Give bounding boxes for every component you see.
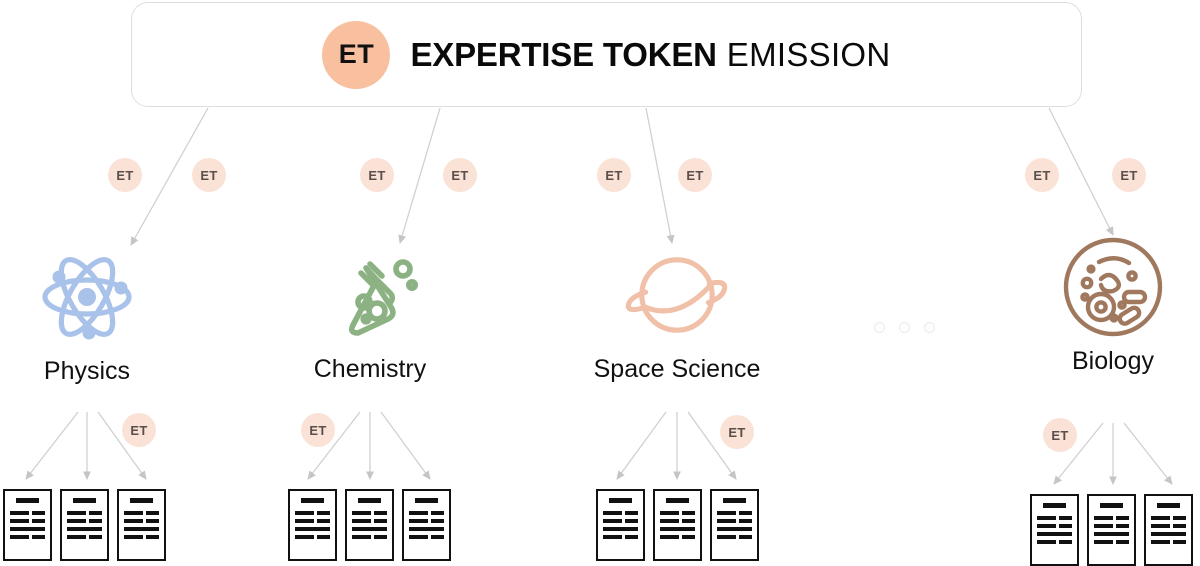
et-badge-chemistry-bottom[interactable]: ET (301, 413, 335, 447)
et-badge-chemistry-top-2[interactable]: ET (443, 158, 477, 192)
document-text-line (67, 535, 86, 539)
document-text-row (1151, 532, 1186, 536)
discipline-biology[interactable]: Biology (1055, 235, 1171, 376)
document-text-line (1151, 540, 1170, 544)
et-badge-physics-top-1[interactable]: ET (108, 158, 142, 192)
document-text-line (352, 527, 387, 531)
document-text-line (89, 535, 102, 539)
document-text-line (317, 519, 330, 523)
et-badge-physics-bottom[interactable]: ET (122, 413, 156, 447)
document-text-row (10, 527, 45, 531)
document-text-line (146, 511, 159, 515)
document-text-line (10, 535, 29, 539)
document-text-row (717, 535, 752, 539)
document-text-line (146, 535, 159, 539)
discipline-label-space-science: Space Science (594, 355, 761, 384)
document-text-row (717, 527, 752, 531)
flask-icon (312, 243, 428, 347)
document-text-row (1037, 524, 1072, 528)
document-text-line (32, 535, 45, 539)
document-text-line (374, 535, 387, 539)
document-text-row (660, 519, 695, 523)
document-text-row (1151, 516, 1186, 520)
paper-document-icon[interactable] (1087, 494, 1136, 566)
et-badge-space-science-top-2[interactable]: ET (678, 158, 712, 192)
document-group-chemistry (288, 489, 451, 561)
document-text-line (1094, 540, 1113, 544)
document-text-row (660, 511, 695, 515)
document-title-bar (73, 498, 96, 503)
document-text-line (1173, 516, 1186, 520)
paper-document-icon[interactable] (596, 489, 645, 561)
paper-document-icon[interactable] (402, 489, 451, 561)
document-text-line (352, 519, 371, 523)
document-text-line (1116, 524, 1129, 528)
document-text-row (409, 519, 444, 523)
arrow-space-science-to-doc-1 (617, 412, 666, 479)
document-text-row (717, 511, 752, 515)
document-text-line (1094, 532, 1129, 536)
document-text-line (317, 535, 330, 539)
document-text-line (1037, 540, 1056, 544)
document-text-line (431, 535, 444, 539)
et-badge-biology-top-1[interactable]: ET (1025, 158, 1059, 192)
document-text-row (660, 527, 695, 531)
document-text-row (352, 535, 387, 539)
paper-document-icon[interactable] (117, 489, 166, 561)
document-text-row (1094, 516, 1129, 520)
document-text-line (409, 535, 428, 539)
document-text-row (1037, 532, 1072, 536)
document-text-line (717, 511, 736, 515)
et-badge-space-science-top-1[interactable]: ET (597, 158, 631, 192)
document-text-row (67, 519, 102, 523)
document-text-row (10, 511, 45, 515)
et-badge-physics-top-2[interactable]: ET (192, 158, 226, 192)
document-text-line (1173, 524, 1186, 528)
document-text-line (603, 519, 622, 523)
arrow-physics-to-doc-1 (26, 412, 78, 479)
document-text-line (409, 511, 428, 515)
document-text-line (1116, 540, 1129, 544)
document-text-line (1059, 516, 1072, 520)
planet-icon (619, 243, 735, 347)
document-text-line (374, 511, 387, 515)
document-text-line (295, 527, 330, 531)
et-badge-chemistry-top-1[interactable]: ET (360, 158, 394, 192)
document-text-line (739, 511, 752, 515)
document-text-line (739, 519, 752, 523)
paper-document-icon[interactable] (710, 489, 759, 561)
document-text-row (124, 527, 159, 531)
paper-document-icon[interactable] (60, 489, 109, 561)
document-text-line (295, 511, 314, 515)
document-group-space-science (596, 489, 759, 561)
arrow-emission-to-chemistry (400, 108, 440, 243)
arrow-biology-to-doc-3 (1124, 423, 1172, 484)
document-text-line (352, 535, 371, 539)
document-text-line (317, 511, 330, 515)
document-text-row (1094, 540, 1129, 544)
document-text-line (739, 535, 752, 539)
document-title-bar (609, 498, 632, 503)
document-text-line (32, 511, 45, 515)
document-text-line (1037, 516, 1056, 520)
document-text-line (660, 527, 695, 531)
discipline-chemistry[interactable]: Chemistry (312, 243, 428, 384)
document-text-line (682, 519, 695, 523)
document-text-row (1151, 540, 1186, 544)
document-text-line (89, 519, 102, 523)
discipline-label-biology: Biology (1072, 347, 1154, 376)
document-text-row (409, 527, 444, 531)
document-text-row (295, 519, 330, 523)
document-text-row (1037, 540, 1072, 544)
document-text-line (146, 519, 159, 523)
ellipsis-dot-2 (899, 322, 910, 333)
discipline-physics[interactable]: Physics (29, 245, 145, 386)
document-text-row (1094, 524, 1129, 528)
document-text-line (1151, 516, 1170, 520)
document-text-line (1059, 540, 1072, 544)
document-text-row (409, 511, 444, 515)
document-text-row (717, 519, 752, 523)
document-text-row (67, 527, 102, 531)
document-text-line (1059, 524, 1072, 528)
document-text-row (603, 535, 638, 539)
petri-dish-icon (1055, 235, 1171, 339)
document-title-bar (415, 498, 438, 503)
document-text-line (1151, 524, 1170, 528)
more-disciplines-ellipsis (874, 322, 935, 333)
arrow-emission-to-space-science (646, 108, 672, 243)
document-text-line (660, 519, 679, 523)
document-title-bar (301, 498, 324, 503)
document-text-row (603, 527, 638, 531)
document-text-row (352, 519, 387, 523)
document-text-line (67, 519, 86, 523)
document-text-line (717, 527, 752, 531)
paper-document-icon[interactable] (3, 489, 52, 561)
document-title-bar (1043, 503, 1066, 508)
document-text-line (295, 519, 314, 523)
paper-document-icon[interactable] (288, 489, 337, 561)
document-text-row (1037, 516, 1072, 520)
document-text-line (32, 519, 45, 523)
document-text-line (431, 519, 444, 523)
document-text-line (682, 511, 695, 515)
discipline-label-chemistry: Chemistry (314, 355, 427, 384)
document-text-row (67, 511, 102, 515)
document-text-line (1037, 524, 1056, 528)
document-text-line (124, 511, 143, 515)
document-text-line (625, 519, 638, 523)
document-text-line (603, 535, 622, 539)
document-text-line (1094, 524, 1113, 528)
document-text-line (717, 535, 736, 539)
ellipsis-dot-1 (874, 322, 885, 333)
document-text-line (10, 511, 29, 515)
ellipsis-dot-3 (924, 322, 935, 333)
document-text-line (603, 527, 638, 531)
document-text-line (89, 511, 102, 515)
document-text-line (603, 511, 622, 515)
document-text-line (409, 527, 444, 531)
et-badge-space-science-bottom[interactable]: ET (720, 415, 754, 449)
atom-icon (29, 245, 145, 349)
document-text-line (124, 527, 159, 531)
document-text-line (625, 511, 638, 515)
document-text-line (1094, 516, 1113, 520)
document-text-line (660, 511, 679, 515)
diagram-canvas: ET EXPERTISE TOKENEMISSION (0, 0, 1200, 561)
document-text-line (660, 535, 679, 539)
document-title-bar (723, 498, 746, 503)
document-title-bar (130, 498, 153, 503)
document-text-row (1151, 524, 1186, 528)
discipline-label-physics: Physics (44, 357, 130, 386)
document-text-line (352, 511, 371, 515)
document-text-line (124, 535, 143, 539)
document-group-biology (1030, 494, 1193, 566)
paper-document-icon[interactable] (653, 489, 702, 561)
document-text-line (1173, 540, 1186, 544)
document-text-row (660, 535, 695, 539)
document-text-row (295, 527, 330, 531)
document-text-row (67, 535, 102, 539)
document-text-line (1116, 516, 1129, 520)
document-text-line (431, 511, 444, 515)
document-text-row (603, 519, 638, 523)
document-title-bar (1157, 503, 1180, 508)
document-text-row (603, 511, 638, 515)
paper-document-icon[interactable] (345, 489, 394, 561)
document-text-line (67, 527, 102, 531)
document-text-line (1037, 532, 1072, 536)
document-text-line (682, 535, 695, 539)
document-title-bar (358, 498, 381, 503)
document-text-row (295, 511, 330, 515)
document-text-line (124, 519, 143, 523)
document-text-row (124, 519, 159, 523)
document-text-line (409, 519, 428, 523)
document-title-bar (666, 498, 689, 503)
document-text-line (67, 511, 86, 515)
et-badge-biology-bottom[interactable]: ET (1043, 418, 1077, 452)
paper-document-icon[interactable] (1030, 494, 1079, 566)
document-text-row (1094, 532, 1129, 536)
discipline-space-science[interactable]: Space Science (584, 243, 770, 384)
et-badge-biology-top-2[interactable]: ET (1112, 158, 1146, 192)
document-text-line (625, 535, 638, 539)
document-text-line (1151, 532, 1186, 536)
document-text-row (352, 511, 387, 515)
document-title-bar (16, 498, 39, 503)
document-text-line (717, 519, 736, 523)
document-text-row (352, 527, 387, 531)
document-text-line (10, 519, 29, 523)
document-text-line (374, 519, 387, 523)
document-text-row (409, 535, 444, 539)
document-text-line (295, 535, 314, 539)
document-text-row (124, 535, 159, 539)
document-text-line (10, 527, 45, 531)
document-text-row (124, 511, 159, 515)
paper-document-icon[interactable] (1144, 494, 1193, 566)
document-text-row (295, 535, 330, 539)
arrow-chemistry-to-doc-3 (381, 412, 430, 479)
document-title-bar (1100, 503, 1123, 508)
document-text-row (10, 535, 45, 539)
document-text-row (10, 519, 45, 523)
document-group-physics (3, 489, 166, 561)
